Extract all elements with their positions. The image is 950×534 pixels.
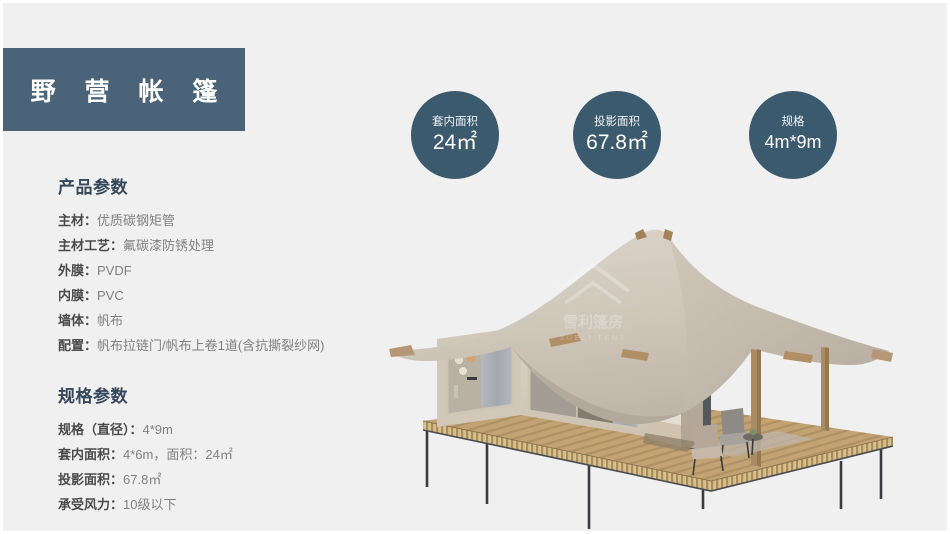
spec-value: 氟碳漆防锈处理 <box>123 238 214 253</box>
badge-label: 套内面积 <box>432 115 478 129</box>
spec-row: 外膜：PVDF <box>58 258 398 283</box>
section-heading-specification: 规格参数 <box>58 382 398 407</box>
spec-label: 投影面积： <box>58 472 123 487</box>
spec-value: 帆布拉链门/帆布上卷1道(含抗撕裂纱网) <box>97 338 325 353</box>
title-banner: 野 营 帐 篷 <box>3 48 245 131</box>
watermark-text-en: XUELI TENT <box>559 333 626 342</box>
spec-row: 投影面积：67.8㎡ <box>58 467 398 492</box>
badge-indoor-area: 套内面积 24㎡ <box>411 91 499 179</box>
canopy-flap-left <box>389 345 415 357</box>
spec-list-specification: 规格（直径）：4*9m 套内面积：4*6m，面积：24㎡ 投影面积：67.8㎡ … <box>58 417 398 517</box>
spec-value: 10级以下 <box>123 497 176 512</box>
spec-row: 配置：帆布拉链门/帆布上卷1道(含抗撕裂纱网) <box>58 333 398 358</box>
spec-label: 外膜： <box>58 263 97 278</box>
spec-list-product: 主材：优质碳钢矩管 主材工艺：氟碳漆防锈处理 外膜：PVDF 内膜：PVC 墙体… <box>58 208 398 358</box>
spec-value: 优质碳钢矩管 <box>97 213 175 228</box>
badge-dimensions: 规格 4m*9m <box>749 91 837 179</box>
spec-value: 4*9m <box>143 422 173 437</box>
spec-label: 主材： <box>58 213 97 228</box>
section-heading-product: 产品参数 <box>58 173 398 198</box>
badge-value: 67.8㎡ <box>586 130 648 155</box>
product-spec-page: 野 营 帐 篷 产品参数 主材：优质碳钢矩管 主材工艺：氟碳漆防锈处理 外膜：P… <box>0 0 950 534</box>
stat-badges: 套内面积 24㎡ 投影面积 67.8㎡ 规格 4m*9m <box>411 91 911 183</box>
spec-row: 规格（直径）：4*9m <box>58 417 398 442</box>
spec-label: 墙体： <box>58 313 97 328</box>
spec-value: PVC <box>97 288 124 303</box>
badge-value: 24㎡ <box>433 130 477 155</box>
spec-value: 帆布 <box>97 313 123 328</box>
watermark-text-cn: 雪利篷房 <box>563 313 623 331</box>
spec-column: 产品参数 主材：优质碳钢矩管 主材工艺：氟碳漆防锈处理 外膜：PVDF 内膜：P… <box>58 173 398 517</box>
spec-row: 内膜：PVC <box>58 283 398 308</box>
spec-label: 承受风力： <box>58 497 123 512</box>
spec-label: 规格（直径）： <box>58 422 143 437</box>
spec-label: 主材工艺： <box>58 238 123 253</box>
spec-row: 墙体：帆布 <box>58 308 398 333</box>
spec-row: 承受风力：10级以下 <box>58 492 398 517</box>
spec-label: 套内面积： <box>58 447 123 462</box>
spec-row: 主材工艺：氟碳漆防锈处理 <box>58 233 398 258</box>
spec-value: 67.8㎡ <box>123 472 161 487</box>
badge-label: 规格 <box>782 115 805 129</box>
badge-label: 投影面积 <box>594 115 640 129</box>
canopy-right-panel <box>669 237 889 413</box>
badge-value: 4m*9m <box>764 130 821 155</box>
page-title: 野 营 帐 篷 <box>20 72 229 108</box>
section-spacer <box>58 358 398 382</box>
tent-illustration: 雪利篷房 XUELI TENT <box>381 199 950 534</box>
spec-row: 主材：优质碳钢矩管 <box>58 208 398 233</box>
spec-label: 内膜： <box>58 288 97 303</box>
spec-label: 配置： <box>58 338 97 353</box>
spec-row: 套内面积：4*6m，面积：24㎡ <box>58 442 398 467</box>
spec-value: 4*6m，面积：24㎡ <box>123 447 233 462</box>
spec-value: PVDF <box>97 263 132 278</box>
badge-projected-area: 投影面积 67.8㎡ <box>573 91 661 179</box>
